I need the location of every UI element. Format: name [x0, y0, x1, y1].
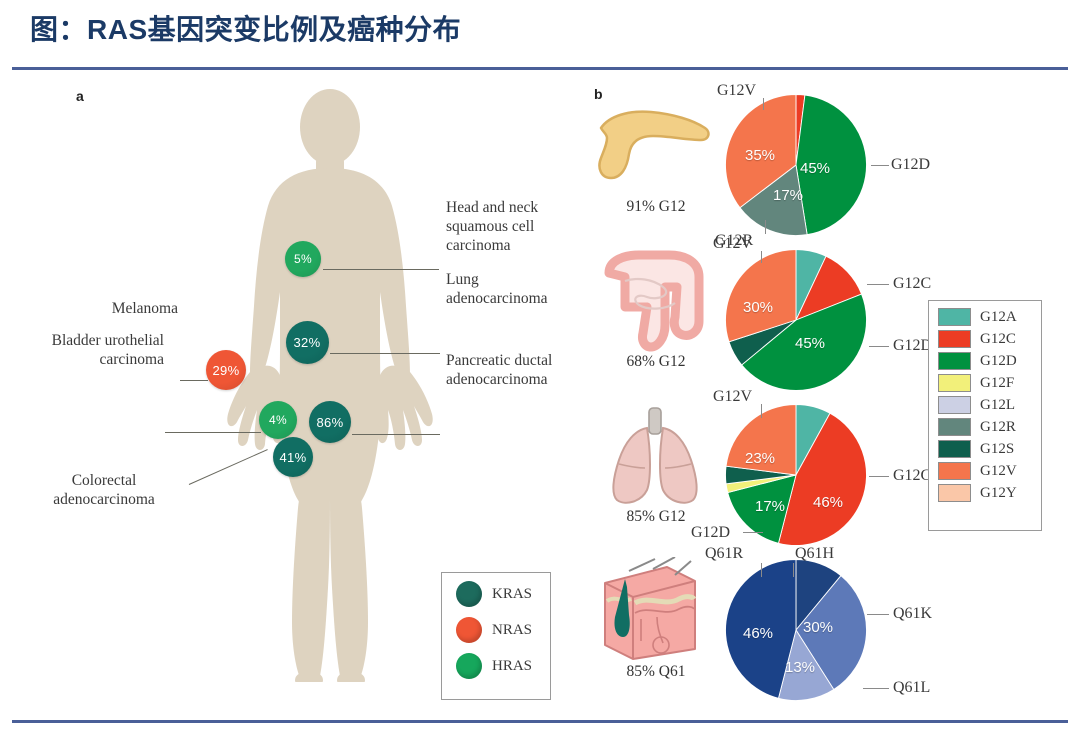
pie-pancreas-label-g12d: G12D [891, 156, 930, 174]
bio-row-pancreas: 91% G12 45% 17% 35% G12V G12D G12R [595, 92, 1065, 242]
g12-legend-item: G12A [938, 308, 1041, 326]
pie-colorectal[interactable] [721, 245, 871, 395]
figure-body: a b [0, 72, 1080, 717]
leader-melanoma [180, 380, 208, 381]
g12-legend-item: G12F [938, 374, 1041, 392]
leader-pancreas [352, 434, 440, 435]
ras-legend-item-hras: HRAS [456, 653, 550, 679]
g12-legend-label: G12L [980, 397, 1015, 414]
colon-caption: 68% G12 [595, 353, 717, 371]
pie-melanoma-tick-q61h [793, 563, 794, 577]
callout-pancreas: Pancreatic ductal adenocarcinoma [446, 352, 586, 390]
callout-melanoma: Melanoma [60, 300, 178, 319]
marker-pancreas[interactable]: 86% [309, 401, 351, 443]
marker-bladder-value: 4% [269, 413, 287, 427]
g12l-swatch-icon [938, 396, 971, 414]
colon-illustration [595, 247, 715, 357]
g12c-swatch-icon [938, 330, 971, 348]
skin-illustration [595, 557, 715, 667]
pie-melanoma-label-q61l: Q61L [893, 679, 930, 697]
g12-legend-item: G12V [938, 462, 1041, 480]
hras-swatch-icon [456, 653, 482, 679]
figure-page: 图：RAS基因突变比例及癌种分布 a b [0, 0, 1080, 740]
ras-legend-item-kras: KRAS [456, 581, 550, 607]
pie-melanoma-tick-q61l [863, 688, 889, 689]
g12-legend-label: G12D [980, 353, 1017, 370]
g12-legend-item: G12C [938, 330, 1041, 348]
g12-legend-label: G12R [980, 419, 1016, 436]
kras-swatch-icon [456, 581, 482, 607]
marker-melanoma-value: 29% [213, 363, 240, 378]
g12a-swatch-icon [938, 308, 971, 326]
marker-head-neck-value: 5% [294, 252, 312, 266]
pie-pancreas-tick-g12r [765, 220, 766, 234]
pie-lung-label-g12v: G12V [713, 388, 752, 406]
pie-melanoma-tick-q61k [867, 614, 889, 615]
pie-melanoma-label-q61k: Q61K [893, 605, 932, 623]
leader-bladder [165, 432, 261, 433]
pie-lung-label-g12d: G12D [691, 524, 730, 542]
pancreas-caption: 91% G12 [595, 198, 717, 216]
pie-pancreas[interactable] [721, 90, 871, 240]
ras-legend-label: HRAS [492, 658, 532, 675]
g12-legend-item: G12S [938, 440, 1041, 458]
g12-legend-item: G12Y [938, 484, 1041, 502]
g12y-swatch-icon [938, 484, 971, 502]
g12-legend-label: G12Y [980, 485, 1017, 502]
nras-swatch-icon [456, 617, 482, 643]
panel-a-label: a [76, 88, 84, 104]
g12-legend-item: G12L [938, 396, 1041, 414]
pie-melanoma-label-q61h: Q61H [795, 545, 834, 563]
header-rule [12, 67, 1068, 70]
marker-lung[interactable]: 32% [286, 321, 329, 364]
g12d-swatch-icon [938, 352, 971, 370]
pie-pancreas-label-g12v: G12V [717, 82, 756, 100]
pancreas-illustration [595, 92, 715, 202]
ras-legend-label: NRAS [492, 622, 532, 639]
pie-colorectal-label-g12d: G12D [893, 337, 932, 355]
page-title: 图：RAS基因突变比例及癌种分布 [30, 8, 461, 48]
lungs-illustration [595, 402, 715, 512]
pie-colorectal-label-g12v: G12V [713, 235, 752, 253]
marker-pancreas-value: 86% [317, 415, 344, 430]
ras-legend-item-nras: NRAS [456, 617, 550, 643]
marker-head-neck[interactable]: 5% [285, 241, 321, 277]
marker-bladder[interactable]: 4% [259, 401, 297, 439]
leader-lung [330, 353, 440, 354]
pie-colorectal-tick-g12v [761, 251, 762, 263]
pie-lung-tick-g12d [743, 532, 763, 533]
g12-legend-item: G12R [938, 418, 1041, 436]
pie-melanoma-tick-q61r [761, 563, 762, 577]
pie-colorectal-tick-g12d [869, 346, 889, 347]
leader-head-neck [323, 269, 439, 270]
g12-legend-label: G12C [980, 331, 1016, 348]
callout-lung: Lung adenocarcinoma [446, 271, 578, 309]
footer-rule [12, 720, 1068, 723]
callout-colorectal: Colorectal adenocarcinoma [30, 472, 178, 510]
g12f-swatch-icon [938, 374, 971, 392]
ras-legend: KRAS NRAS HRAS [441, 572, 551, 700]
pie-melanoma[interactable] [721, 555, 871, 705]
pie-melanoma-label-q61r: Q61R [705, 545, 743, 563]
g12v-swatch-icon [938, 462, 971, 480]
g12r-swatch-icon [938, 418, 971, 436]
pie-lung-label-g12c: G12C [893, 467, 931, 485]
skin-caption: 85% Q61 [595, 663, 717, 681]
pie-lung[interactable] [721, 400, 871, 550]
pie-lung-tick-g12c [869, 476, 889, 477]
g12-legend-label: G12S [980, 441, 1014, 458]
g12-legend: G12A G12C G12D G12F G12L G12R G12S G12V … [928, 300, 1042, 531]
pie-pancreas-tick-g12d [871, 165, 889, 166]
pie-colorectal-label-g12c: G12C [893, 275, 931, 293]
g12-legend-label: G12A [980, 309, 1017, 326]
pie-slice-g12d[interactable] [796, 95, 867, 235]
marker-melanoma[interactable]: 29% [206, 350, 246, 390]
g12s-swatch-icon [938, 440, 971, 458]
pie-pancreas-tick-g12v [763, 98, 764, 110]
callout-bladder: Bladder urothelial carcinoma [42, 332, 164, 370]
pie-colorectal-tick-g12c [867, 284, 889, 285]
marker-lung-value: 32% [294, 335, 321, 350]
marker-colorectal-value: 41% [280, 450, 307, 465]
ras-legend-label: KRAS [492, 586, 532, 603]
bio-row-melanoma: 85% Q61 30% 13% 46% Q61R Q61H Q61K Q61L [595, 557, 1065, 707]
callout-head-neck: Head and neck squamous cell carcinoma [446, 199, 578, 256]
g12-legend-label: G12V [980, 463, 1017, 480]
pie-lung-tick-g12v [761, 404, 762, 418]
g12-legend-label: G12F [980, 375, 1014, 392]
g12-legend-item: G12D [938, 352, 1041, 370]
marker-colorectal[interactable]: 41% [273, 437, 313, 477]
